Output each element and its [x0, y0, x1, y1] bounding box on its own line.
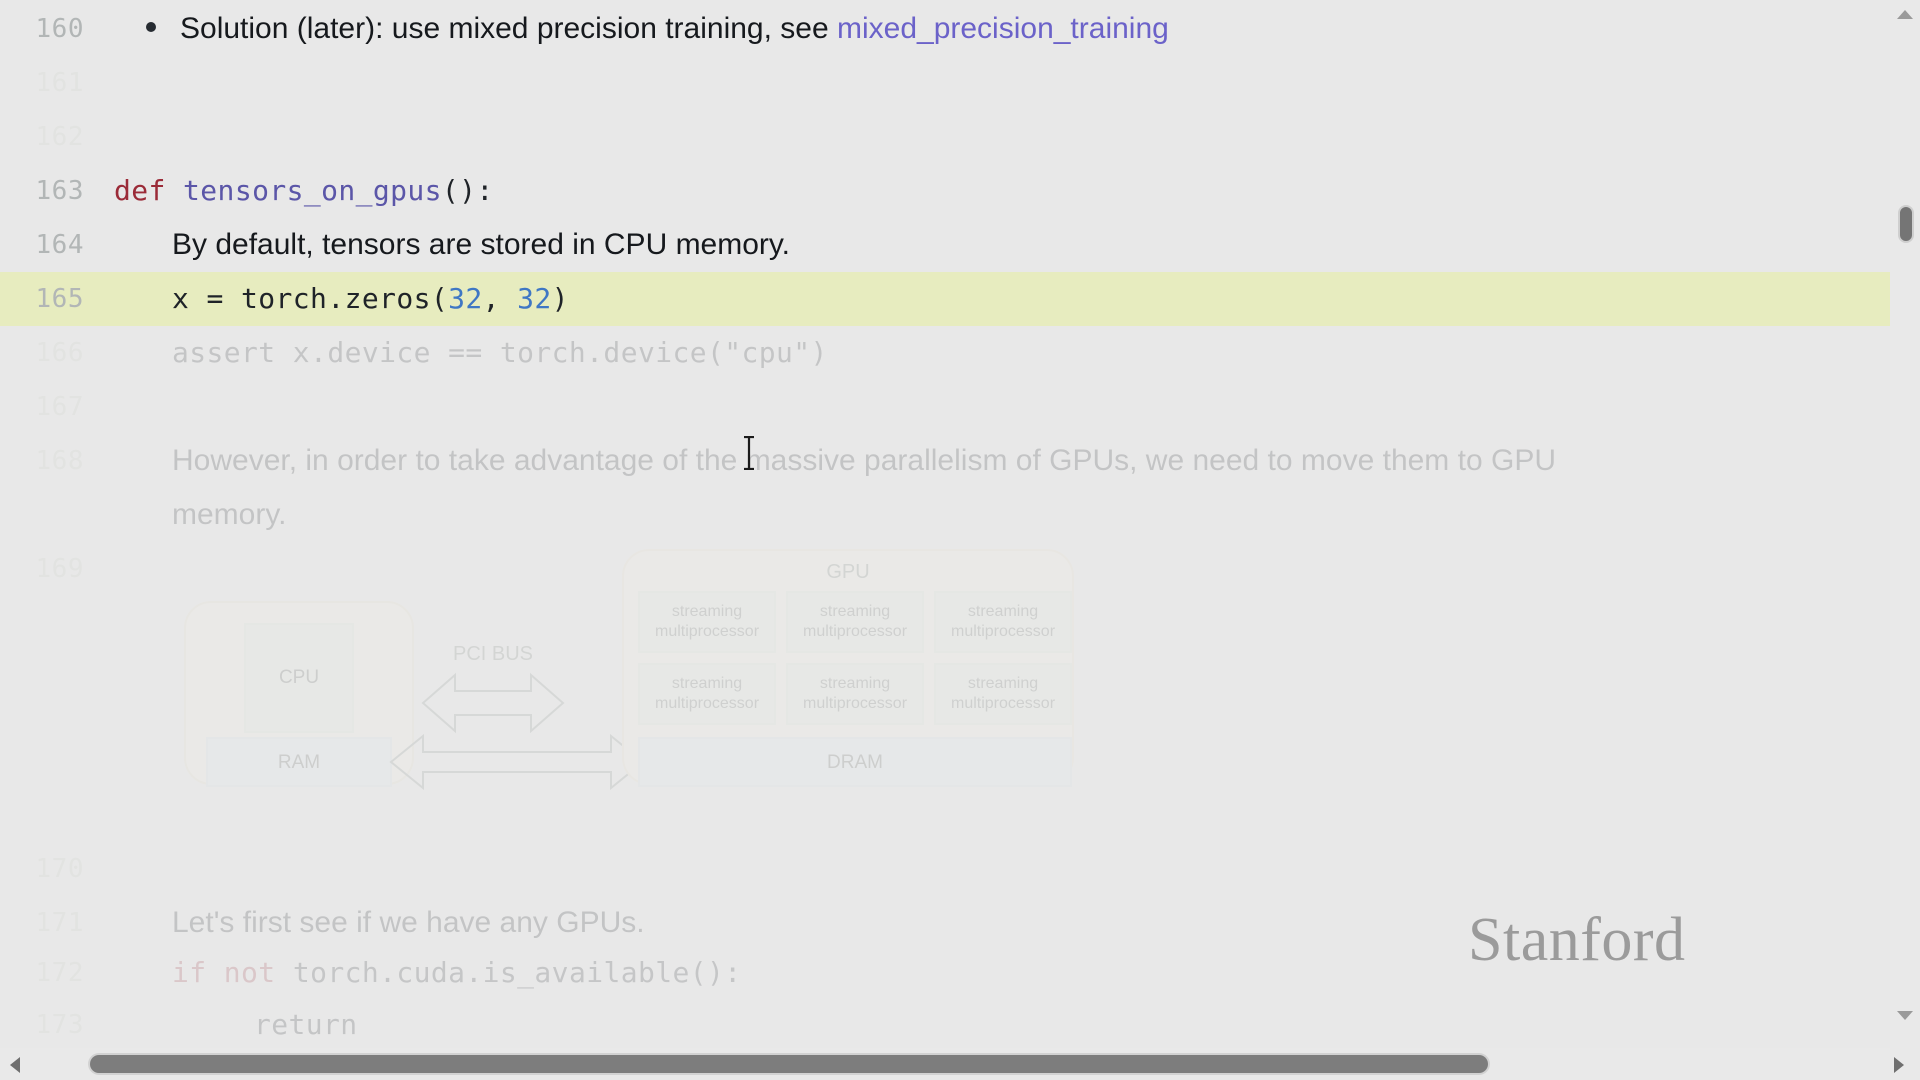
line-row-168-wrap: memory.: [0, 488, 1890, 542]
code-165-close: ): [552, 282, 569, 315]
line-number-166: 166: [0, 338, 106, 368]
line-number-170: 170: [0, 854, 106, 884]
code-165-arg2: 32: [517, 282, 552, 315]
sm-cell-3: streaming multiprocessor: [935, 592, 1071, 652]
sm-box: [935, 664, 1071, 724]
keyword-def: def: [114, 174, 166, 207]
sm-label-line1: streaming: [820, 603, 890, 620]
scroll-left-arrow-icon[interactable]: [8, 1056, 22, 1074]
sm-cell-2: streaming multiprocessor: [787, 592, 923, 652]
line-number-167: 167: [0, 392, 106, 422]
pci-bus-arrow-lower: [391, 736, 643, 788]
scroll-up-arrow-icon[interactable]: [1896, 8, 1914, 20]
line-number-168: 168: [0, 446, 106, 476]
sm-label-line2: multiprocessor: [803, 695, 908, 712]
link-mixed-precision-training[interactable]: mixed_precision_training: [837, 12, 1169, 45]
sm-label-line1: streaming: [672, 603, 742, 620]
sm-box: [935, 592, 1071, 652]
sm-cell-5: streaming multiprocessor: [787, 664, 923, 724]
line-number-165: 165: [0, 284, 106, 314]
dram-label: DRAM: [827, 752, 883, 773]
sm-box: [787, 592, 923, 652]
line-row-161[interactable]: 161: [0, 56, 1890, 110]
sm-box: [639, 664, 775, 724]
code-165-head: x = torch.zeros(: [172, 282, 448, 315]
line-text-164: By default, tensors are stored in CPU me…: [106, 230, 1890, 260]
vertical-scrollbar-thumb[interactable]: [1898, 205, 1914, 243]
line-text-163: def tensors_on_gpus():: [106, 177, 1890, 205]
pci-bus-arrow-upper: [423, 675, 563, 731]
line-number-161: 161: [0, 68, 106, 98]
line-number-169: 169: [0, 554, 106, 584]
cpu-label: CPU: [279, 667, 319, 688]
notebook-editor-surface[interactable]: 160 Solution (later): use mixed precisio…: [0, 0, 1890, 1048]
horizontal-scrollbar-thumb[interactable]: [90, 1055, 1488, 1073]
scroll-down-arrow-icon[interactable]: [1896, 1010, 1914, 1022]
line-number-162: 162: [0, 122, 106, 152]
line-row-168[interactable]: 168 However, in order to take advantage …: [0, 434, 1890, 488]
sm-label-line1: streaming: [968, 603, 1038, 620]
scroll-right-arrow-icon[interactable]: [1892, 1056, 1906, 1074]
sm-box: [639, 592, 775, 652]
line-row-162[interactable]: 162: [0, 110, 1890, 164]
def-tail: ():: [442, 174, 494, 207]
bullet-text-160: Solution (later): use mixed precision tr…: [180, 12, 837, 45]
line-number-163: 163: [0, 176, 106, 206]
line-row-164[interactable]: 164 By default, tensors are stored in CP…: [0, 218, 1890, 272]
line-row-163[interactable]: 163 def tensors_on_gpus():: [0, 164, 1890, 218]
line-text-168: However, in order to take advantage of t…: [106, 446, 1890, 476]
sm-label-line2: multiprocessor: [803, 623, 908, 640]
line-row-170[interactable]: 170: [0, 842, 1890, 896]
line-text-160: Solution (later): use mixed precision tr…: [106, 14, 1890, 44]
space: [166, 174, 183, 207]
line-row-167[interactable]: 167: [0, 380, 1890, 434]
pci-bus-label: PCI BUS: [453, 643, 533, 665]
line-text-165: x = torch.zeros(32, 32): [106, 285, 1890, 313]
keyword-if: if: [172, 956, 207, 989]
sm-label-line1: streaming: [820, 675, 890, 692]
line-number-164: 164: [0, 230, 106, 260]
sm-label-line2: multiprocessor: [951, 623, 1056, 640]
line-number-173: 173: [0, 1010, 106, 1040]
sm-label-line2: multiprocessor: [655, 623, 760, 640]
code-172-rest: torch.cuda.is_available():: [276, 956, 742, 989]
slide-screen: 160 Solution (later): use mixed precisio…: [0, 0, 1920, 1080]
line-row-173[interactable]: 173 return: [0, 998, 1890, 1048]
line-number-172: 172: [0, 958, 106, 988]
sm-cell-1: streaming multiprocessor: [639, 592, 775, 652]
gpu-label: GPU: [826, 561, 869, 583]
line-text-166: assert x.device == torch.device("cpu"): [106, 339, 1890, 367]
code-165-arg1: 32: [448, 282, 483, 315]
ram-label: RAM: [278, 752, 320, 773]
code-165-comma: ,: [483, 282, 518, 315]
bullet-icon: [146, 22, 156, 32]
line-row-160[interactable]: 160 Solution (later): use mixed precisio…: [0, 2, 1890, 56]
sm-label-line2: multiprocessor: [951, 695, 1056, 712]
line-text-173: return: [106, 1011, 1890, 1039]
line-number-160: 160: [0, 14, 106, 44]
sm-label-line2: multiprocessor: [655, 695, 760, 712]
sm-cell-4: streaming multiprocessor: [639, 664, 775, 724]
stanford-wordmark: Stanford: [1468, 905, 1686, 976]
line-text-168-wrap: memory.: [106, 500, 1890, 530]
line-number-171: 171: [0, 908, 106, 938]
line-row-166[interactable]: 166 assert x.device == torch.device("cpu…: [0, 326, 1890, 380]
vertical-scrollbar[interactable]: [1890, 0, 1920, 1048]
function-name: tensors_on_gpus: [183, 174, 442, 207]
horizontal-scrollbar[interactable]: [0, 1048, 1920, 1080]
sm-label-line1: streaming: [672, 675, 742, 692]
keyword-not: not: [224, 956, 276, 989]
sm-label-line1: streaming: [968, 675, 1038, 692]
sm-box: [787, 664, 923, 724]
line-row-165-highlighted[interactable]: 165 x = torch.zeros(32, 32): [0, 272, 1890, 326]
space2: [207, 956, 224, 989]
cpu-gpu-architecture-diagram: CPU RAM PCI BUS GPU streaming multiproce…: [183, 540, 1083, 825]
sm-cell-6: streaming multiprocessor: [935, 664, 1071, 724]
